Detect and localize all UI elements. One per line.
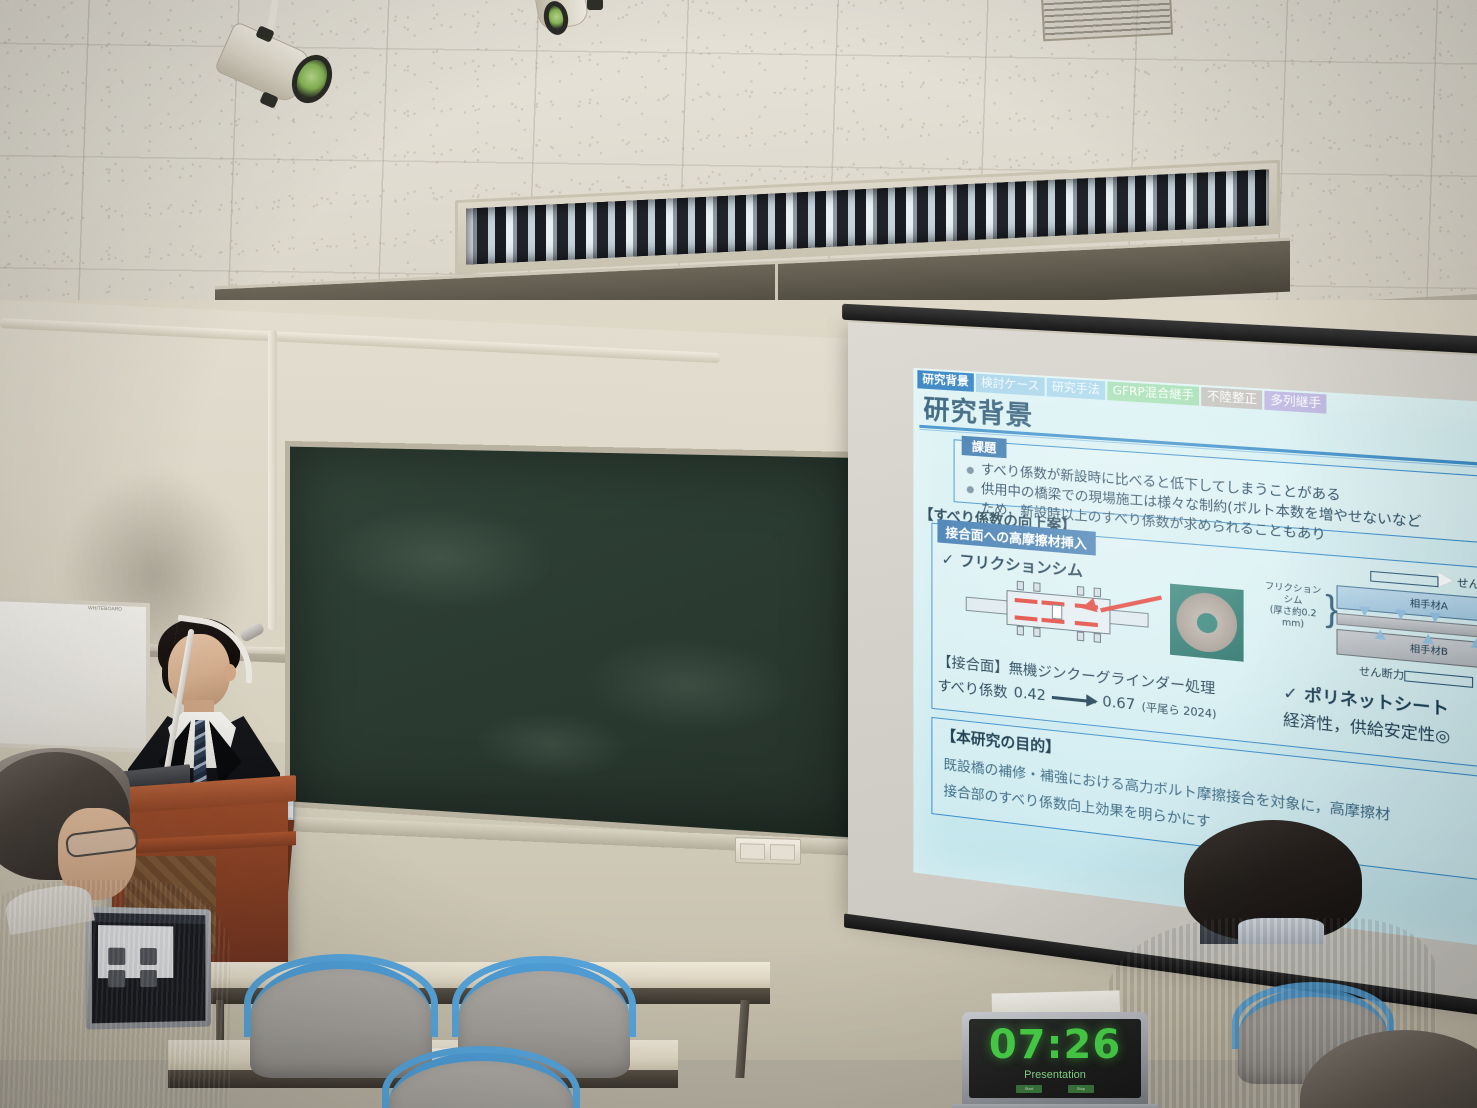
tab-tarestu-tsugite[interactable]: 多列継手 xyxy=(1265,391,1327,414)
slip-coefficient-after: 0.67 xyxy=(1102,694,1135,714)
shear-arrowhead-right xyxy=(1439,572,1454,588)
improvement-arrow-icon xyxy=(1052,695,1096,703)
shim-thickness-label: フリクション シム (厚さ約0.2 mm) xyxy=(1257,581,1330,634)
whiteboard-label: WHITEBOARD xyxy=(88,605,122,612)
tab-furiku-seisei[interactable]: 不陸整正 xyxy=(1202,387,1263,410)
timer-label: Presentation xyxy=(1024,1069,1086,1081)
hvac-vent xyxy=(1041,0,1173,41)
wall-conduit xyxy=(268,330,277,630)
material-b-block xyxy=(1336,629,1477,673)
laptop-base xyxy=(952,1104,1158,1108)
audience-member-left xyxy=(0,752,270,1108)
timer-stop-button[interactable]: Stop xyxy=(1068,1085,1094,1093)
shear-arrow-bottom xyxy=(1404,671,1473,688)
friction-shim-photo xyxy=(1170,584,1244,662)
timer-value: 07:26 xyxy=(989,1025,1121,1065)
presentation-timer-laptop[interactable]: 07:26 Presentation Start Stop xyxy=(962,1012,1148,1108)
spotlight-icon xyxy=(515,0,635,58)
spotlight-icon xyxy=(215,8,355,118)
shear-label-top: せん断力 xyxy=(1457,574,1477,594)
shear-arrow-top xyxy=(1370,571,1438,587)
lecture-room-photo: WHITEBOARD Kleenex 研究背景 検討ケース 研究手法 GFRP混… xyxy=(0,0,1477,1108)
timer-display: 07:26 Presentation Start Stop xyxy=(969,1019,1141,1098)
chalkboard xyxy=(285,441,860,844)
audience-cardigan xyxy=(0,880,230,1108)
chair[interactable] xyxy=(388,1052,574,1108)
issue-badge: 課題 xyxy=(962,436,1007,458)
timer-button-row: Start Stop xyxy=(1016,1085,1094,1093)
tab-gfrp-joint[interactable]: GFRP混合継手 xyxy=(1107,381,1199,406)
shear-label-bottom: せん断力 xyxy=(1359,662,1404,682)
tab-kenkyu-shuhou[interactable]: 研究手法 xyxy=(1047,378,1106,400)
wall-outlet[interactable] xyxy=(735,837,801,865)
slip-coefficient-before: 0.42 xyxy=(1014,685,1046,705)
timer-start-button[interactable]: Start xyxy=(1016,1085,1042,1093)
